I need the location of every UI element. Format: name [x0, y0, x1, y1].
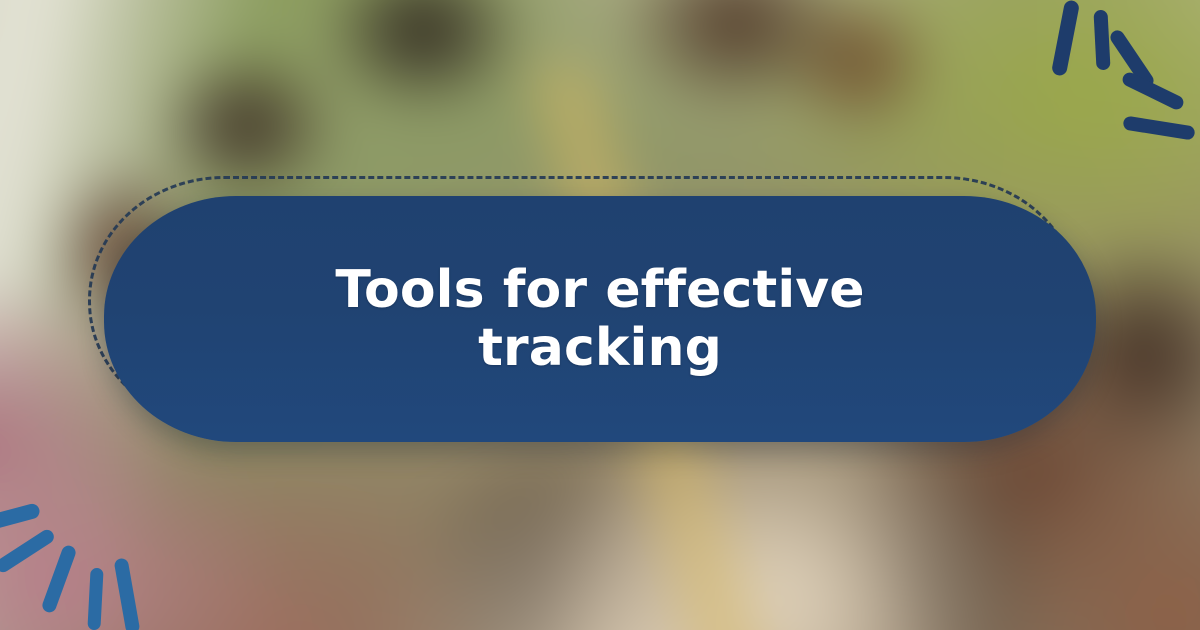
burst-ray: [114, 557, 141, 630]
burst-ray: [1122, 115, 1195, 140]
title-card: Tools for effective tracking: [104, 196, 1096, 442]
burst-ray: [87, 568, 103, 630]
burst-ray: [1093, 10, 1110, 71]
burst-ray: [1120, 70, 1185, 112]
sparkle-burst-icon-bottom-left: [0, 474, 170, 630]
page-title: Tools for effective tracking: [280, 261, 920, 377]
poster-canvas: Tools for effective tracking: [0, 0, 1200, 630]
burst-ray: [1051, 0, 1080, 77]
burst-ray: [40, 544, 77, 615]
burst-ray: [0, 502, 41, 536]
burst-ray: [0, 527, 56, 575]
sparkle-burst-icon-top-right: [1040, 0, 1200, 156]
